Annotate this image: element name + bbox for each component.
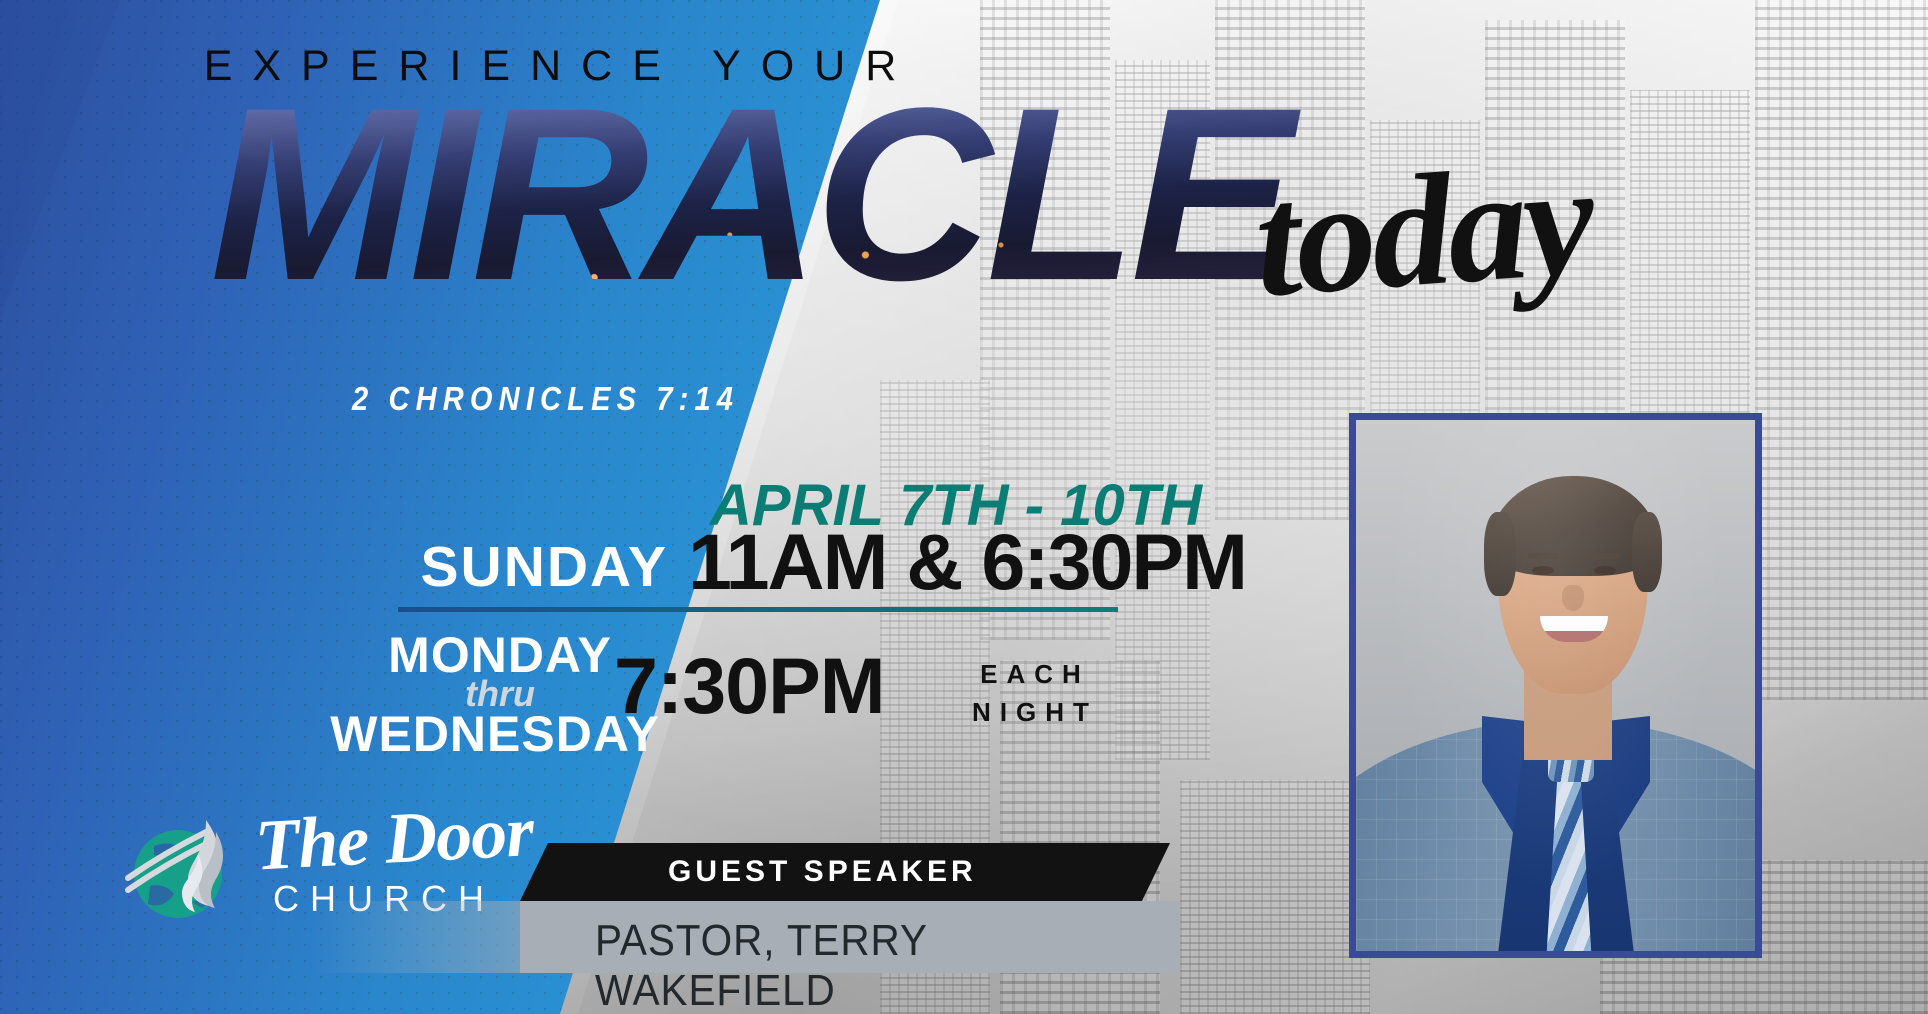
weekday-note-line1: EACH: [950, 655, 1120, 693]
schedule-divider: [398, 607, 1118, 612]
guest-speaker-label: GUEST SPEAKER: [668, 855, 977, 889]
weekday-note-line2: NIGHT: [950, 693, 1120, 731]
weekday-note: EACH NIGHT: [950, 655, 1120, 731]
event-flyer: EXPERIENCE YOUR MIRACLE today 2 CHRONICL…: [0, 0, 1928, 1014]
headline-miracle: MIRACLE: [210, 70, 1340, 320]
speaker-portrait: [1349, 413, 1762, 958]
speaker-bar-fade: [0, 901, 520, 973]
speaker-name-bar: PASTOR, TERRY WAKEFIELD: [520, 901, 1180, 973]
guest-speaker-banner: GUEST SPEAKER: [520, 843, 1170, 901]
scripture-reference: 2 CHRONICLES 7:14: [352, 380, 739, 418]
weekday-time: 7:30PM: [614, 640, 885, 732]
headline-today-script: today: [1250, 138, 1596, 321]
church-name-script: The Door: [253, 792, 547, 883]
speaker-name: PASTOR, TERRY WAKEFIELD: [595, 916, 1133, 1014]
sunday-times: 11AM & 6:30PM: [688, 516, 1246, 608]
headline-wrap: MIRACLE: [210, 70, 1340, 320]
sunday-label: SUNDAY: [418, 534, 668, 600]
